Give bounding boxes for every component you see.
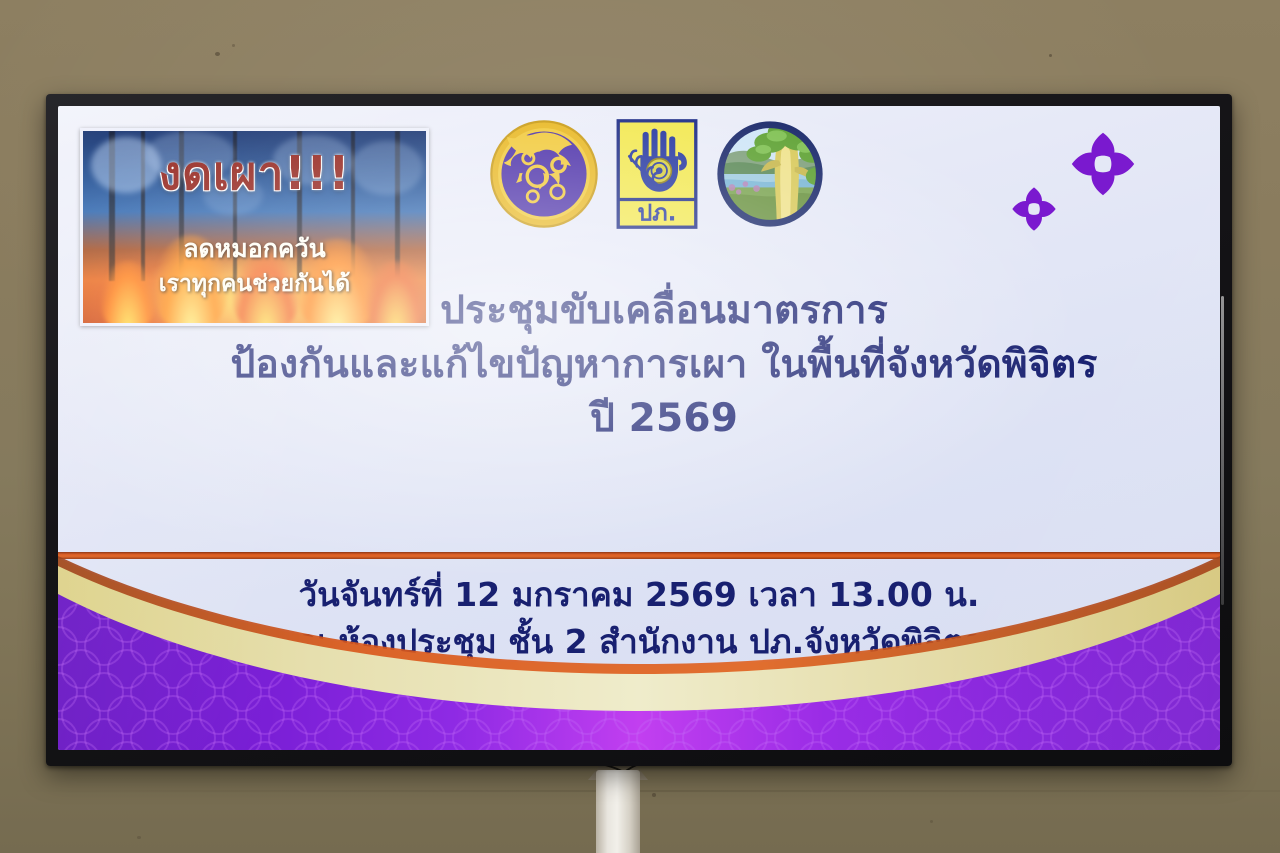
poster-title: งดเผา!!!: [83, 137, 426, 210]
slide-title-line-1: ประชุมขับเคลื่อนมาตรการ: [148, 286, 1180, 336]
television: งดเผา!!! ลดหมอกควัน เราทุกคนช่วยกันได้: [46, 94, 1232, 766]
garuda-singha-emblem-icon: [488, 118, 600, 230]
ddpm-emblem-caption: ปภ.: [638, 200, 677, 227]
tv-screen: งดเผา!!! ลดหมอกควัน เราทุกคนช่วยกันได้: [58, 106, 1220, 750]
presentation-slide: งดเผา!!! ลดหมอกควัน เราทุกคนช่วยกันได้: [58, 106, 1220, 750]
emblem-row: ปภ.: [488, 118, 826, 230]
cable-conduit: [596, 770, 640, 853]
slide-title-line-2: ป้องกันและแก้ไขปัญหาการเผา ในพื้นที่จังห…: [148, 340, 1180, 390]
slide-title-line-3: ปี 2569: [148, 394, 1180, 444]
slide-bottom-wave: [58, 554, 1220, 750]
room-scene: งดเผา!!! ลดหมอกควัน เราทุกคนช่วยกันได้: [0, 0, 1280, 853]
slide-title-block: ประชุมขับเคลื่อนมาตรการ ป้องกันและแก้ไขป…: [148, 286, 1180, 444]
poster-subtitle-1: ลดหมอกควัน: [83, 229, 426, 269]
four-petal-flower-large-icon: [1067, 128, 1139, 200]
four-petal-flower-small-icon: [1009, 184, 1059, 234]
phichit-province-tree-emblem-icon: [714, 118, 826, 230]
ddpm-hand-emblem-icon: ปภ.: [616, 118, 698, 230]
bezel-edge-reflection: [1221, 296, 1224, 605]
